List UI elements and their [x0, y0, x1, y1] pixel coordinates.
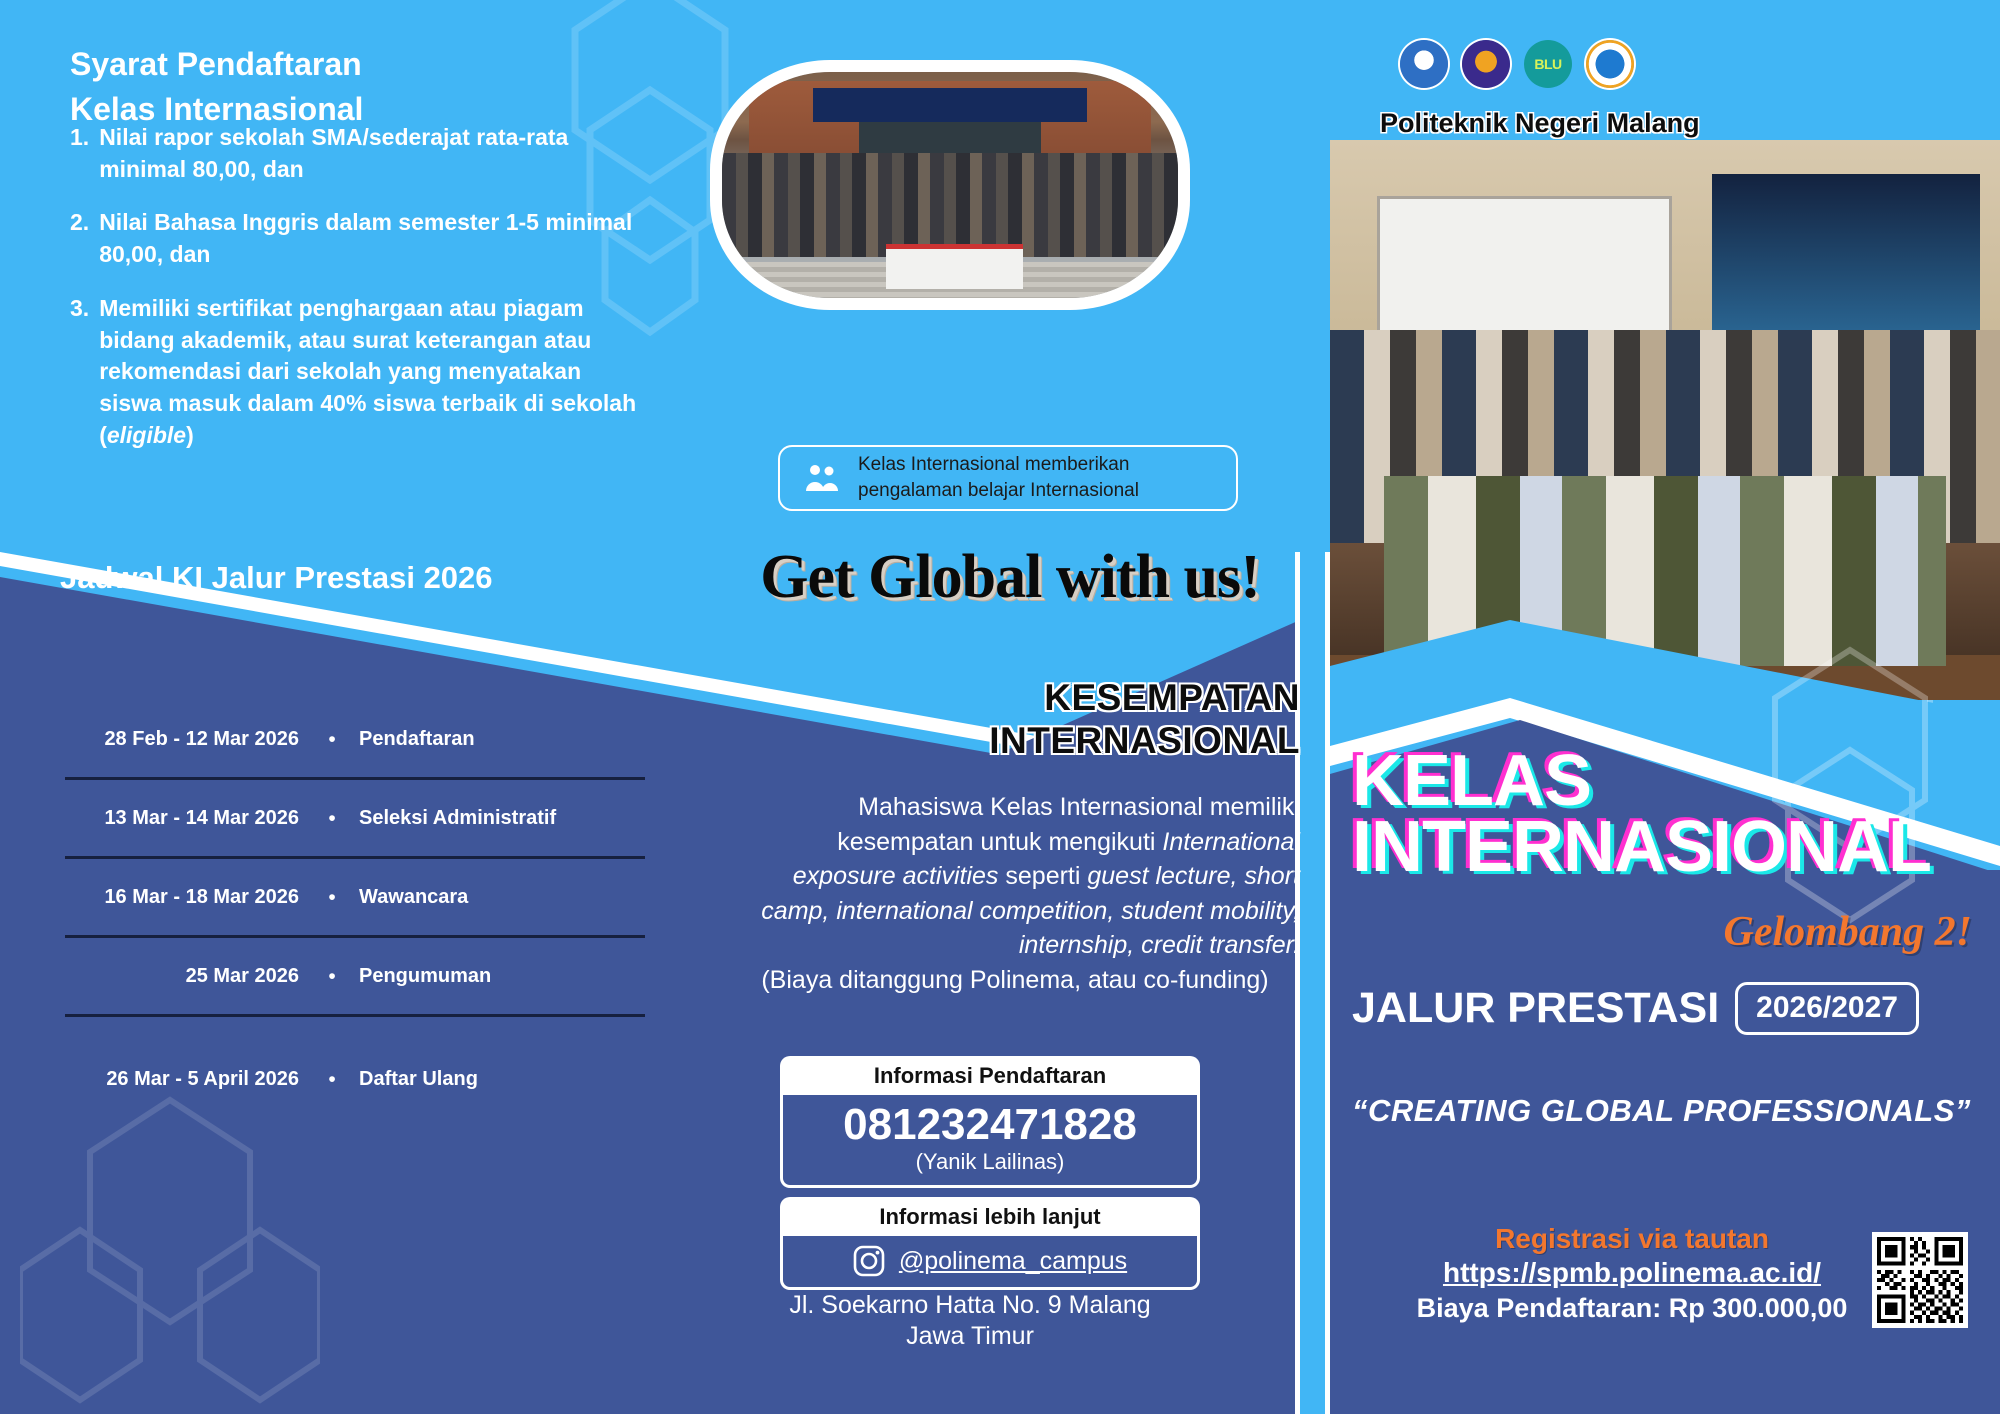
schedule-date: 28 Feb - 12 Mar 2026 — [55, 728, 305, 751]
group-photo-students — [1330, 140, 2000, 700]
info-more-body: @polinema_campus — [780, 1236, 1200, 1290]
registration-contact-name: (Yanik Lailinas) — [783, 1149, 1197, 1175]
schedule-table: 28 Feb - 12 Mar 2026 • Pendaftaran 13 Ma… — [55, 684, 655, 1110]
registration-heading: Registrasi via tautan — [1352, 1222, 1912, 1255]
info-registration-box: Informasi Pendaftaran 081232471828 (Yani… — [780, 1056, 1200, 1188]
schedule-separator — [65, 777, 645, 780]
schedule-row: 26 Mar - 5 April 2026 • Daftar Ulang — [55, 1048, 655, 1110]
pastisainter-berdampak-logo — [1586, 40, 1634, 88]
brochure-page: Syarat Pendaftaran Kelas Internasional 1… — [0, 0, 2000, 1414]
requirement-text: Nilai rapor sekolah SMA/sederajat rata-r… — [99, 122, 640, 185]
info-registration-body: 081232471828 (Yanik Lailinas) — [780, 1095, 1200, 1188]
schedule-label: Pengumuman — [359, 965, 491, 988]
address-line2: Jawa Timur — [740, 1321, 1200, 1352]
requirements-title-line1: Syarat Pendaftaran — [70, 42, 630, 87]
main-title: KELAS INTERNASIONAL — [1352, 748, 1992, 880]
qr-code[interactable] — [1872, 1232, 1968, 1328]
info-more-box: Informasi lebih lanjut @polinema_campus — [780, 1197, 1200, 1290]
requirement-item: 1. Nilai rapor sekolah SMA/sederajat rat… — [70, 122, 640, 185]
callout-box: Kelas Internasional memberikan pengalama… — [778, 445, 1238, 511]
schedule-row: 28 Feb - 12 Mar 2026 • Pendaftaran — [55, 708, 655, 770]
opportunity-body-last: (Biaya ditanggung Polinema, atau co-fund… — [730, 963, 1300, 998]
opportunity-body-part2: seperti — [998, 862, 1087, 890]
schedule-title: Jadwal KI Jalur Prestasi 2026 — [60, 560, 700, 596]
registration-block: Registrasi via tautan https://spmb.polin… — [1352, 1222, 1912, 1327]
main-title-line1: KELAS — [1352, 748, 1992, 814]
schedule-label: Seleksi Administratif — [359, 807, 556, 830]
bullet-icon: • — [305, 729, 359, 750]
schedule-date: 16 Mar - 18 Mar 2026 — [55, 886, 305, 909]
schedule-date: 13 Mar - 14 Mar 2026 — [55, 807, 305, 830]
opportunity-title-line2: INTERNASIONAL — [740, 719, 1300, 762]
info-registration-header: Informasi Pendaftaran — [780, 1056, 1200, 1095]
track-label: JALUR PRESTASI — [1352, 984, 1719, 1033]
address-line1: Jl. Soekarno Hatta No. 9 Malang — [740, 1290, 1200, 1321]
requirement-text: Nilai Bahasa Inggris dalam semester 1-5 … — [99, 207, 640, 270]
info-more-header: Informasi lebih lanjut — [780, 1197, 1200, 1236]
registration-phone[interactable]: 081232471828 — [783, 1101, 1197, 1149]
blu-speed-logo: BLU — [1524, 40, 1572, 88]
requirements-list: 1. Nilai rapor sekolah SMA/sederajat rat… — [70, 122, 640, 474]
address-block: Jl. Soekarno Hatta No. 9 Malang Jawa Tim… — [740, 1290, 1200, 1352]
schedule-date: 25 Mar 2026 — [55, 965, 305, 988]
logo-row: BLU — [1400, 40, 1634, 88]
institution-name: Politeknik Negeri Malang — [1380, 108, 1900, 139]
bullet-icon: • — [305, 966, 359, 987]
schedule-separator — [65, 935, 645, 938]
opportunity-body: Mahasiswa Kelas Internasional memiliki k… — [730, 790, 1300, 997]
instagram-icon[interactable] — [853, 1245, 885, 1277]
bullet-icon: • — [305, 887, 359, 908]
requirements-title: Syarat Pendaftaran Kelas Internasional — [70, 42, 630, 133]
people-icon — [804, 463, 840, 493]
bullet-icon: • — [305, 808, 359, 829]
registration-url[interactable]: https://spmb.polinema.ac.id/ — [1352, 1255, 1912, 1291]
tagline: “CREATING GLOBAL PROFESSIONALS” — [1352, 1093, 1972, 1129]
opportunity-title-line1: KESEMPATAN — [740, 676, 1300, 719]
schedule-separator — [65, 1014, 645, 1017]
headline-get-global: Get Global with us! — [710, 542, 1310, 613]
academic-year-badge: 2026/2027 — [1735, 982, 1919, 1035]
qr-code-image — [1877, 1237, 1963, 1323]
main-title-line2: INTERNASIONAL — [1352, 814, 1992, 880]
callout-line1: Kelas Internasional memberikan — [858, 452, 1139, 478]
opportunity-title: KESEMPATAN INTERNASIONAL — [740, 676, 1300, 763]
callout-text: Kelas Internasional memberikan pengalama… — [858, 452, 1139, 504]
callout-line2: pengalaman belajar Internasional — [858, 478, 1139, 504]
requirement-item: 2. Nilai Bahasa Inggris dalam semester 1… — [70, 207, 640, 270]
registration-fee: Biaya Pendaftaran: Rp 300.000,00 — [1352, 1291, 1912, 1326]
schedule-row: 16 Mar - 18 Mar 2026 • Wawancara — [55, 866, 655, 928]
tut-wuri-handayani-logo — [1400, 40, 1448, 88]
track-row: JALUR PRESTASI 2026/2027 — [1352, 982, 1919, 1035]
schedule-date: 26 Mar - 5 April 2026 — [55, 1068, 305, 1091]
schedule-label: Daftar Ulang — [359, 1068, 478, 1091]
polinema-logo — [1462, 40, 1510, 88]
schedule-label: Pendaftaran — [359, 728, 475, 751]
schedule-label: Wawancara — [359, 886, 468, 909]
schedule-separator — [65, 856, 645, 859]
requirement-number: 2. — [70, 207, 89, 270]
requirement-number: 1. — [70, 122, 89, 185]
requirement-number: 3. — [70, 293, 89, 452]
instagram-handle[interactable]: @polinema_campus — [899, 1247, 1127, 1276]
requirement-text-italic: eligible — [107, 422, 186, 448]
group-photo-taiwan — [710, 60, 1190, 310]
wave-label: Gelombang 2! — [1352, 908, 1972, 956]
bullet-icon: • — [305, 1069, 359, 1090]
schedule-row: 25 Mar 2026 • Pengumuman — [55, 945, 655, 1007]
requirement-text-after: ) — [186, 422, 194, 448]
requirement-item: 3. Memiliki sertifikat penghargaan atau … — [70, 293, 640, 452]
schedule-row: 13 Mar - 14 Mar 2026 • Seleksi Administr… — [55, 787, 655, 849]
requirement-text: Memiliki sertifikat penghargaan atau pia… — [99, 293, 640, 452]
